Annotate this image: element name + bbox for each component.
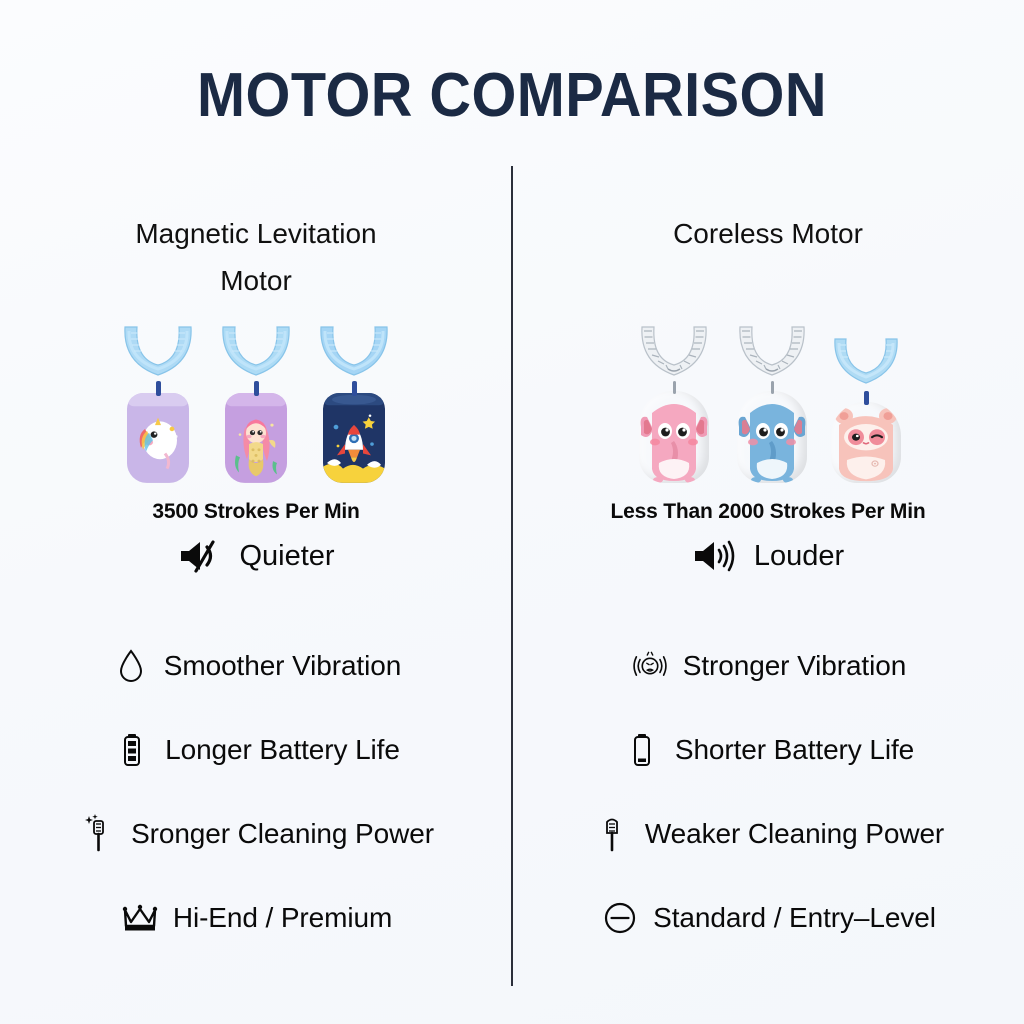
column-magnetic-levitation: Magnetic Levitation Motor (0, 0, 512, 1024)
feature-list-coreless: Stronger Vibration Shorter Battery Life (512, 624, 1024, 960)
brush-stem (673, 381, 676, 394)
noise-row-magnetic: Quieter (0, 538, 512, 574)
circle-minus-icon (600, 898, 640, 938)
feature-list-magnetic: Smoother Vibration Longer Battery Life (0, 624, 512, 960)
pink-panda-handle (831, 402, 901, 483)
speaker-loud-icon (692, 538, 736, 574)
noise-label-magnetic: Quieter (239, 540, 334, 573)
u-shape-brush-head-icon (635, 323, 713, 379)
column-heading-line1: Coreless Motor (552, 210, 984, 257)
battery-low-icon (622, 730, 662, 770)
u-shape-brush-head-icon (827, 333, 905, 389)
feature-label: Standard / Entry–Level (653, 902, 936, 934)
feature-label: Sronger Cleaning Power (131, 818, 434, 850)
column-heading-line1: Magnetic Levitation (40, 210, 472, 257)
strokes-label-coreless: Less Than 2000 Strokes Per Min (512, 500, 1024, 524)
product-pink-panda-toothbrush (824, 333, 908, 483)
brush-stem (254, 381, 259, 396)
product-blue-elephant-toothbrush (726, 323, 818, 483)
toothbrush-icon (592, 814, 632, 854)
feature-row: Weaker Cleaning Power (512, 792, 1024, 876)
strokes-label-magnetic: 3500 Strokes Per Min (0, 500, 512, 524)
column-coreless-motor: Coreless Motor (512, 0, 1024, 1024)
u-shape-brush-head-icon (733, 323, 811, 379)
column-heading-magnetic: Magnetic Levitation Motor (0, 210, 512, 304)
feature-label: Hi-End / Premium (173, 902, 392, 934)
feature-label: Shorter Battery Life (675, 734, 914, 766)
toothbrush-sparkle-icon (78, 814, 118, 854)
feature-row: Smoother Vibration (0, 624, 512, 708)
u-shape-brush-head-icon (119, 323, 197, 379)
vibrating-face-icon (630, 646, 670, 686)
mermaid-handle (225, 393, 287, 483)
brush-stem (771, 381, 774, 394)
feature-label: Stronger Vibration (683, 650, 906, 682)
feature-row: Sronger Cleaning Power (0, 792, 512, 876)
u-shape-brush-head-icon (315, 323, 393, 379)
speaker-muted-icon (177, 538, 221, 574)
feature-label: Weaker Cleaning Power (645, 818, 944, 850)
column-heading-coreless: Coreless Motor (512, 210, 1024, 257)
product-mermaid-toothbrush (210, 323, 302, 483)
product-unicorn-toothbrush (112, 323, 204, 483)
product-row-magnetic (0, 318, 512, 483)
feature-row: Stronger Vibration (512, 624, 1024, 708)
pink-elephant-handle (639, 391, 709, 483)
battery-full-icon (112, 730, 152, 770)
column-heading-line2: Motor (40, 257, 472, 304)
blue-elephant-handle (737, 391, 807, 483)
feature-row: Hi-End / Premium (0, 876, 512, 960)
u-shape-brush-head-icon (217, 323, 295, 379)
feature-row: Standard / Entry–Level (512, 876, 1024, 960)
rocket-handle (323, 393, 385, 483)
comparison-columns: Magnetic Levitation Motor (0, 0, 1024, 1024)
water-drop-icon (111, 646, 151, 686)
unicorn-handle (127, 393, 189, 483)
brush-stem (864, 391, 869, 405)
brush-stem (156, 381, 161, 396)
noise-row-coreless: Louder (512, 538, 1024, 574)
feature-label: Smoother Vibration (164, 650, 401, 682)
feature-row: Longer Battery Life (0, 708, 512, 792)
noise-label-coreless: Louder (754, 540, 844, 573)
feature-label: Longer Battery Life (165, 734, 400, 766)
crown-icon (120, 898, 160, 938)
feature-row: Shorter Battery Life (512, 708, 1024, 792)
product-pink-elephant-toothbrush (628, 323, 720, 483)
brush-stem (352, 381, 357, 396)
product-row-coreless (512, 318, 1024, 483)
product-rocket-toothbrush (308, 323, 400, 483)
